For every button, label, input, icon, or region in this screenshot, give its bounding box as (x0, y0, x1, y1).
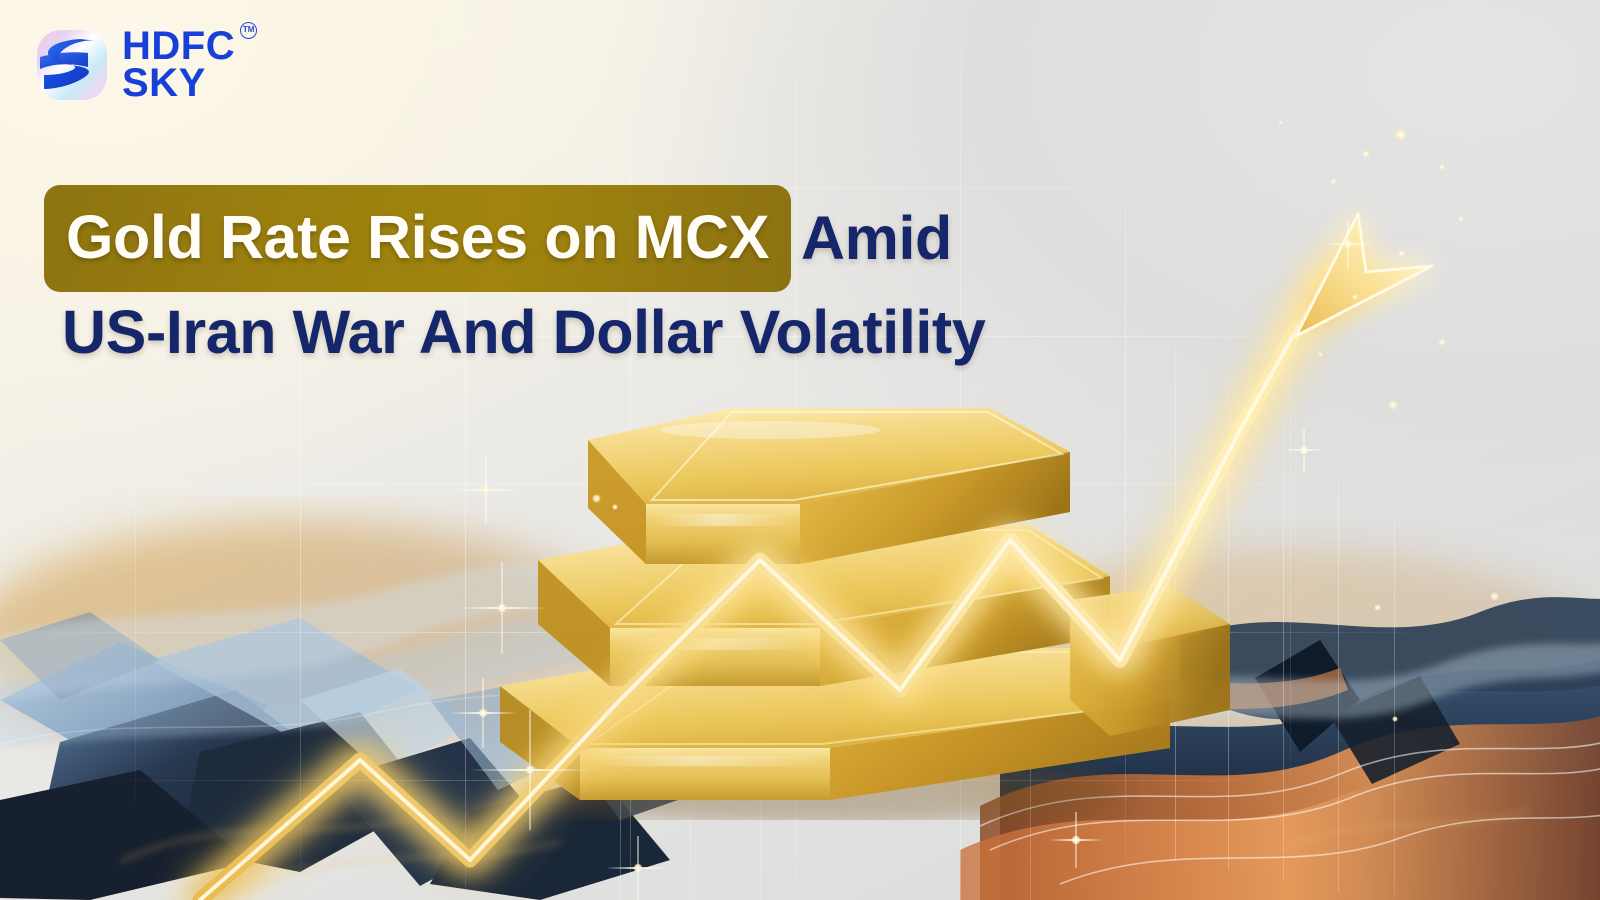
headline: Gold Rate Rises on MCXAmid US-Iran War A… (44, 185, 1244, 363)
faint-grid-icon (0, 0, 1600, 900)
logo-mark-svg (36, 29, 108, 101)
hdfc-sky-logo[interactable]: HDFC SKY TM (36, 28, 235, 102)
gold-bar-rear-right (1070, 586, 1230, 736)
blue-ribbon (1120, 640, 1600, 736)
gold-bar-middle (538, 526, 1110, 686)
headline-line-2-plain: US-Iran War And Dollar Volatility (62, 302, 985, 363)
rising-trend-arrow-icon (0, 0, 1600, 900)
gold-filaments (120, 810, 1530, 890)
trademark-icon: TM (240, 22, 257, 39)
copper-waves (960, 596, 1600, 900)
headline-line-1-plain: Amid (801, 208, 952, 269)
arrow-head-icon (1296, 214, 1432, 336)
vertical-chart-rules (0, 0, 1600, 900)
headline-line-2: US-Iran War And Dollar Volatility (44, 302, 1244, 363)
logo-line-1: HDFC (122, 28, 235, 65)
gold-bars-svg (470, 400, 1230, 820)
logo-wordmark: HDFC SKY TM (122, 28, 235, 102)
headline-highlight: Gold Rate Rises on MCX (44, 185, 791, 292)
trendline-svg (0, 0, 1600, 900)
wave-contour-lines (0, 680, 1600, 884)
gold-bar-top (588, 408, 1070, 564)
gold-bars-illustration (470, 400, 1230, 820)
terrain-svg (0, 0, 1600, 900)
headline-line-1: Gold Rate Rises on MCXAmid (44, 185, 1244, 292)
promotional-banner: HDFC SKY TM Gold Rate Rises on MCXAmid U… (0, 0, 1600, 900)
blue-crystal-shards (0, 612, 730, 900)
abstract-terrain-background (0, 0, 1600, 900)
logo-line-2: SKY (122, 65, 235, 102)
gold-bar-bottom (500, 648, 1170, 800)
hdfc-sky-swoosh-logo-icon (36, 29, 108, 101)
gold-bokeh-particles (0, 0, 1600, 900)
blue-silk-drape (0, 540, 726, 752)
